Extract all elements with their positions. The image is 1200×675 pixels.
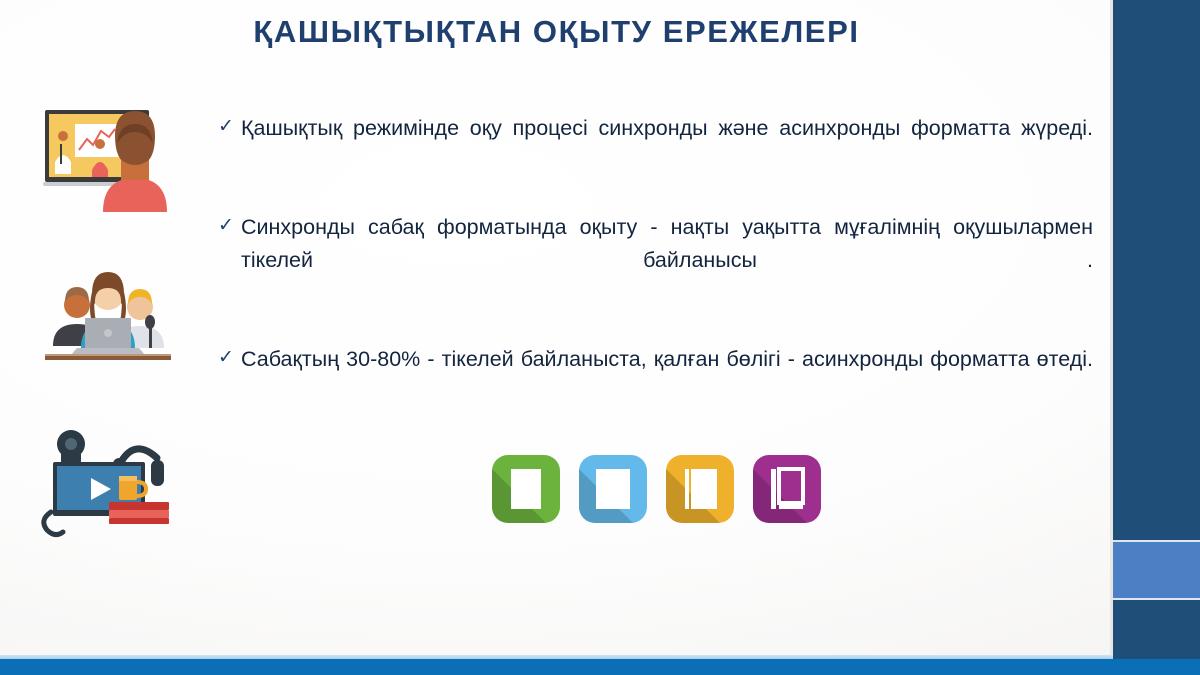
- book-icon-row: [492, 455, 821, 523]
- bullet-text: Сабақтың 30-80% - тікелей байланыста, қа…: [241, 343, 1093, 408]
- group-of-students-at-laptop-icon: [33, 258, 183, 366]
- book-glyph-spine-lines: [680, 467, 720, 511]
- bullet-text: Қашықтық режимінде оқу процесі синхронды…: [241, 112, 1093, 177]
- page-title: ҚАШЫҚТЫҚТАН ОҚЫТУ ЕРЕЖЕЛЕРІ: [0, 14, 1113, 50]
- book-glyph-bookmark: [593, 467, 633, 511]
- book-icon-blue[interactable]: [579, 455, 647, 523]
- illustration-monitor-headphones-books: [33, 420, 188, 538]
- checkmark-icon: ✓: [218, 112, 241, 142]
- book-icon-purple[interactable]: [753, 455, 821, 523]
- bullet-list: ✓ Қашықтық режимінде оқу процесі синхрон…: [218, 112, 1093, 443]
- right-edge-accent-block: [1113, 540, 1200, 600]
- bottom-accent-bar: [0, 659, 1200, 675]
- student-watching-online-lesson-icon: [33, 100, 183, 215]
- bullet-item: ✓ Синхронды сабақ форматында оқыту - нақ…: [218, 211, 1093, 309]
- slide-canvas: ҚАШЫҚТЫҚТАН ОҚЫТУ ЕРЕЖЕЛЕРІ: [0, 0, 1200, 675]
- book-icon-green[interactable]: [492, 455, 560, 523]
- book-icon-yellow[interactable]: [666, 455, 734, 523]
- book-glyph-open: [767, 467, 807, 511]
- illustration-group-of-students-at-laptop: [33, 258, 183, 366]
- illustration-student-watching-online-lesson: [33, 100, 183, 215]
- bullet-item: ✓ Сабақтың 30-80% - тікелей байланыста, …: [218, 343, 1093, 408]
- book-glyph-lined: [507, 467, 545, 511]
- monitor-with-headphones-and-books-icon: [33, 420, 188, 538]
- checkmark-icon: ✓: [218, 211, 241, 241]
- bullet-text: Синхронды сабақ форматында оқыту - нақты…: [241, 211, 1093, 309]
- bullet-item: ✓ Қашықтық режимінде оқу процесі синхрон…: [218, 112, 1093, 177]
- checkmark-icon: ✓: [218, 343, 241, 373]
